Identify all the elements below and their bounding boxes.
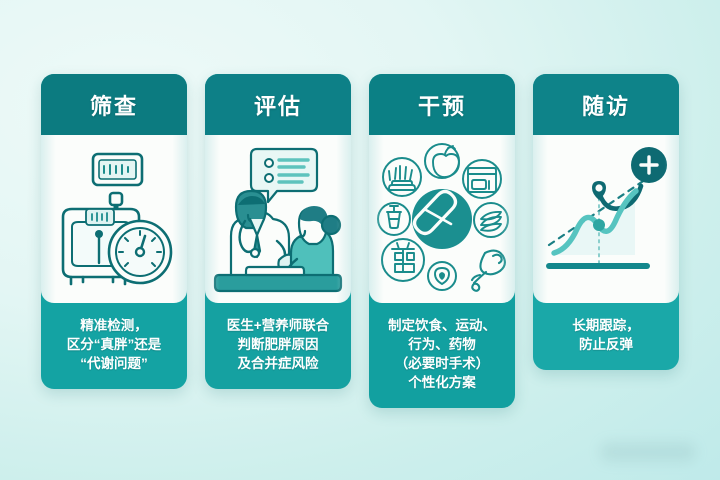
card-assessment-text: 医生+营养师联合 判断肥胖原因 及合并症风险 xyxy=(205,303,351,389)
text-line: 防止反弹 xyxy=(541,335,671,354)
card-follow-up-text: 长期跟踪， 防止反弹 xyxy=(533,303,679,370)
card-screening-header: 筛查 xyxy=(41,74,187,135)
card-follow-up-header: 随访 xyxy=(533,74,679,135)
weight-scale-illustration xyxy=(41,135,187,303)
text-line: 区分“真胖”还是 xyxy=(49,335,179,354)
text-line: （必要时手术） xyxy=(377,354,507,373)
card-intervention[interactable]: 干预 xyxy=(369,74,515,408)
trend-chart-illustration xyxy=(533,135,679,303)
pathway-card-row: 筛查 xyxy=(0,0,720,480)
text-line: 制定饮食、运动、 xyxy=(377,316,507,335)
location-pin-marker xyxy=(592,181,606,200)
card-screening-text: 精准检测， 区分“真胖”还是 “代谢问题” xyxy=(41,303,187,389)
text-line: 长期跟踪， xyxy=(541,316,671,335)
text-line: 行为、药物 xyxy=(377,335,507,354)
text-line: 及合并症风险 xyxy=(213,354,343,373)
intervention-icon-cluster-illustration xyxy=(369,135,515,303)
text-line: 精准检测， xyxy=(49,316,179,335)
text-line: 判断肥胖原因 xyxy=(213,335,343,354)
text-line: 个性化方案 xyxy=(377,373,507,392)
card-follow-up[interactable]: 随访 xyxy=(533,74,679,370)
curve-data-point xyxy=(593,219,605,231)
text-line: 医生+营养师联合 xyxy=(213,316,343,335)
text-line: “代谢问题” xyxy=(49,354,179,373)
card-intervention-header: 干预 xyxy=(369,74,515,135)
card-screening[interactable]: 筛查 xyxy=(41,74,187,389)
doctor-consultation-illustration xyxy=(205,135,351,303)
card-assessment-header: 评估 xyxy=(205,74,351,135)
card-intervention-text: 制定饮食、运动、 行为、药物 （必要时手术） 个性化方案 xyxy=(369,303,515,408)
card-assessment[interactable]: 评估 xyxy=(205,74,351,389)
plus-badge-icon xyxy=(631,147,667,183)
